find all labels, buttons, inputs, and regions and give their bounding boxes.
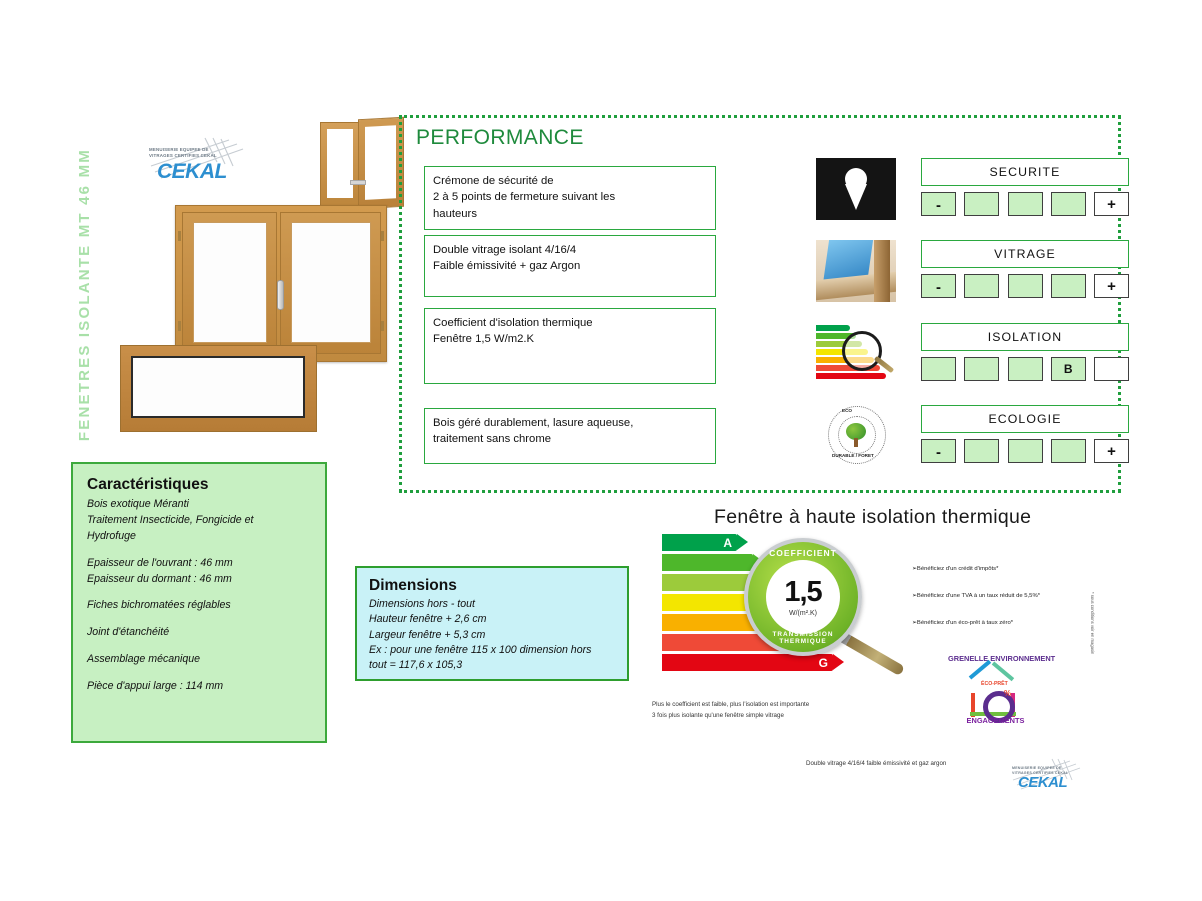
rating-box[interactable] bbox=[1008, 274, 1043, 298]
dimensions-line: tout = 117,6 x 105,3 bbox=[369, 658, 615, 673]
rating-label-isolation: ISOLATION bbox=[921, 323, 1129, 351]
coefficient-bottom-label: TRANSMISSION THERMIQUE bbox=[748, 631, 858, 645]
coefficient-disc: 1,5 W/(m².K) bbox=[766, 560, 840, 634]
window-open-sash bbox=[320, 122, 400, 212]
energy-bar-a: A bbox=[662, 534, 737, 551]
rating-label-vitrage: VITRAGE bbox=[921, 240, 1129, 268]
window-open-handle bbox=[350, 180, 366, 185]
rating-box[interactable]: + bbox=[1094, 274, 1129, 298]
rating-box[interactable] bbox=[1051, 439, 1086, 463]
grenelle-house-icon: ÉCO-PRÊT % bbox=[970, 676, 1016, 716]
dimensions-line: Dimensions hors - tout bbox=[369, 597, 615, 612]
caracteristiques-panel: Caractéristiques Bois exotique Méranti T… bbox=[71, 462, 327, 743]
performance-panel: PERFORMANCE Crémone de sécurité de 2 à 5… bbox=[399, 115, 1121, 493]
rating-scale-vitrage: - + bbox=[921, 274, 1129, 298]
eco-tree-icon: ECODURABLE / FORET bbox=[816, 405, 896, 467]
benefits-footnote: * sous conditions voir en magasin bbox=[1090, 592, 1104, 682]
rating-box[interactable] bbox=[1051, 274, 1086, 298]
rating-box[interactable] bbox=[964, 439, 999, 463]
rating-box[interactable] bbox=[921, 357, 956, 381]
grenelle-arc-bottom: ENGAGEMENTS bbox=[948, 716, 1043, 725]
grenelle-environnement-logo: GRENELLE ENVIRONNEMENT ÉCO-PRÊT % ENGAGE… bbox=[948, 654, 1043, 742]
benefit-item: ➢Bénéficiez d'une TVA à un taux réduit d… bbox=[912, 593, 1097, 599]
rating-row-ecologie: ECODURABLE / FORET ECOLOGIE - + bbox=[816, 405, 1130, 467]
rating-box[interactable]: - bbox=[921, 439, 956, 463]
rating-box[interactable] bbox=[1051, 192, 1086, 216]
rating-row-isolation: ISOLATION B bbox=[816, 323, 1130, 385]
benefits-list: ➢Bénéficiez d'un crédit d'impôts* ➢Bénéf… bbox=[912, 566, 1097, 647]
performance-box-1: Crémone de sécurité de 2 à 5 points de f… bbox=[424, 166, 716, 230]
rating-box[interactable] bbox=[1008, 439, 1043, 463]
window-double-casement bbox=[175, 205, 387, 362]
side-title-text: FENETRES ISOLANTE MT 46 MM bbox=[76, 148, 93, 441]
rating-box-selected[interactable]: B bbox=[1051, 357, 1086, 381]
caracteristiques-line: Fiches bichromatées réglables bbox=[87, 598, 311, 614]
rating-box[interactable] bbox=[1094, 357, 1129, 381]
dimensions-line: Largeur fenêtre + 5,3 cm bbox=[369, 628, 615, 643]
caracteristiques-line: Pièce d'appui large : 114 mm bbox=[87, 679, 311, 695]
rating-scale-securite: - + bbox=[921, 192, 1129, 216]
rating-label-securite: SECURITE bbox=[921, 158, 1129, 186]
caracteristiques-line: Epaisseur de l'ouvrant : 46 mm bbox=[87, 556, 311, 572]
rating-row-securite: SECURITE - + bbox=[816, 158, 1130, 220]
rating-box[interactable]: + bbox=[1094, 439, 1129, 463]
window-open-frame bbox=[320, 122, 360, 206]
window-open-leaf bbox=[358, 117, 404, 209]
rating-box[interactable]: - bbox=[921, 192, 956, 216]
energy-bars-mini bbox=[816, 323, 896, 385]
window-product-image bbox=[120, 120, 400, 440]
caracteristiques-line: Assemblage mécanique bbox=[87, 652, 311, 668]
dimensions-panel: Dimensions Dimensions hors - tout Hauteu… bbox=[355, 566, 629, 681]
performance-box-3: Coefficient d'isolation thermique Fenêtr… bbox=[424, 308, 716, 384]
rating-box[interactable]: - bbox=[921, 274, 956, 298]
rating-label-ecologie: ECOLOGIE bbox=[921, 405, 1129, 433]
eco-pret-label: ÉCO-PRÊT bbox=[981, 681, 1008, 687]
rating-box[interactable] bbox=[1008, 357, 1043, 381]
thermal-headline: Fenêtre à haute isolation thermique bbox=[714, 506, 1031, 529]
energy-bar-g: G bbox=[662, 654, 833, 671]
glazing-photo-icon bbox=[816, 240, 896, 302]
keyhole-icon bbox=[816, 158, 896, 220]
bottom-note: Double vitrage 4/16/4 faible émissivité … bbox=[806, 760, 946, 767]
caracteristiques-line: Hydrofuge bbox=[87, 529, 311, 545]
performance-title: PERFORMANCE bbox=[416, 126, 584, 150]
rating-scale-isolation: B bbox=[921, 357, 1129, 381]
cekal-logo-bottom: MENUISERIE EQUIPEE DE VITRAGES CERTIFIES… bbox=[1008, 758, 1086, 802]
benefit-item: ➢Bénéficiez d'un éco-prêt à taux zéro* bbox=[912, 620, 1097, 626]
side-title: FENETRES ISOLANTE MT 46 MM bbox=[71, 115, 97, 475]
caracteristiques-line: Bois exotique Méranti bbox=[87, 497, 311, 513]
coefficient-magnifier: COEFFICIENT 1,5 W/(m².K) TRANSMISSION TH… bbox=[744, 538, 862, 656]
window-handle bbox=[277, 280, 284, 310]
cekal-wordmark: CEKAL bbox=[1018, 774, 1067, 791]
rating-box[interactable]: + bbox=[1094, 192, 1129, 216]
performance-box-2: Double vitrage isolant 4/16/4 Faible émi… bbox=[424, 235, 716, 297]
energy-caption: Plus le coefficient est faible, plus l'i… bbox=[652, 700, 809, 722]
brochure-page: FENETRES ISOLANTE MT 46 MM MENUISERIE EQ… bbox=[0, 0, 1202, 901]
coefficient-unit: W/(m².K) bbox=[789, 610, 817, 617]
rating-box[interactable] bbox=[964, 192, 999, 216]
rating-box[interactable] bbox=[1008, 192, 1043, 216]
rating-box[interactable] bbox=[964, 274, 999, 298]
dimensions-line: Ex : pour une fenêtre 115 x 100 dimensio… bbox=[369, 643, 615, 658]
energy-label-graphic: A F G COEFFICIENT 1,5 W/(m².K) bbox=[662, 534, 907, 704]
coefficient-top-label: COEFFICIENT bbox=[748, 548, 858, 558]
caracteristiques-line: Epaisseur du dormant : 46 mm bbox=[87, 572, 311, 588]
window-fixed-transom bbox=[120, 345, 317, 432]
coefficient-value: 1,5 bbox=[784, 578, 821, 607]
caracteristiques-title: Caractéristiques bbox=[87, 476, 311, 494]
dimensions-title: Dimensions bbox=[369, 577, 615, 595]
window-sash-left bbox=[182, 212, 277, 354]
caracteristiques-line: Joint d'étanchéité bbox=[87, 625, 311, 641]
grenelle-percent: % bbox=[1004, 689, 1011, 698]
performance-box-4: Bois géré durablement, lasure aqueuse, t… bbox=[424, 408, 716, 464]
caracteristiques-line: Traitement Insecticide, Fongicide et bbox=[87, 513, 311, 529]
rating-scale-ecologie: - + bbox=[921, 439, 1129, 463]
energy-bar-b bbox=[662, 554, 753, 571]
rating-box[interactable] bbox=[964, 357, 999, 381]
benefit-item: ➢Bénéficiez d'un crédit d'impôts* bbox=[912, 566, 1097, 572]
dimensions-line: Hauteur fenêtre + 2,6 cm bbox=[369, 612, 615, 627]
rating-row-vitrage: VITRAGE - + bbox=[816, 240, 1130, 302]
window-sash-right bbox=[280, 212, 381, 354]
energy-magnifier-icon bbox=[816, 323, 896, 385]
